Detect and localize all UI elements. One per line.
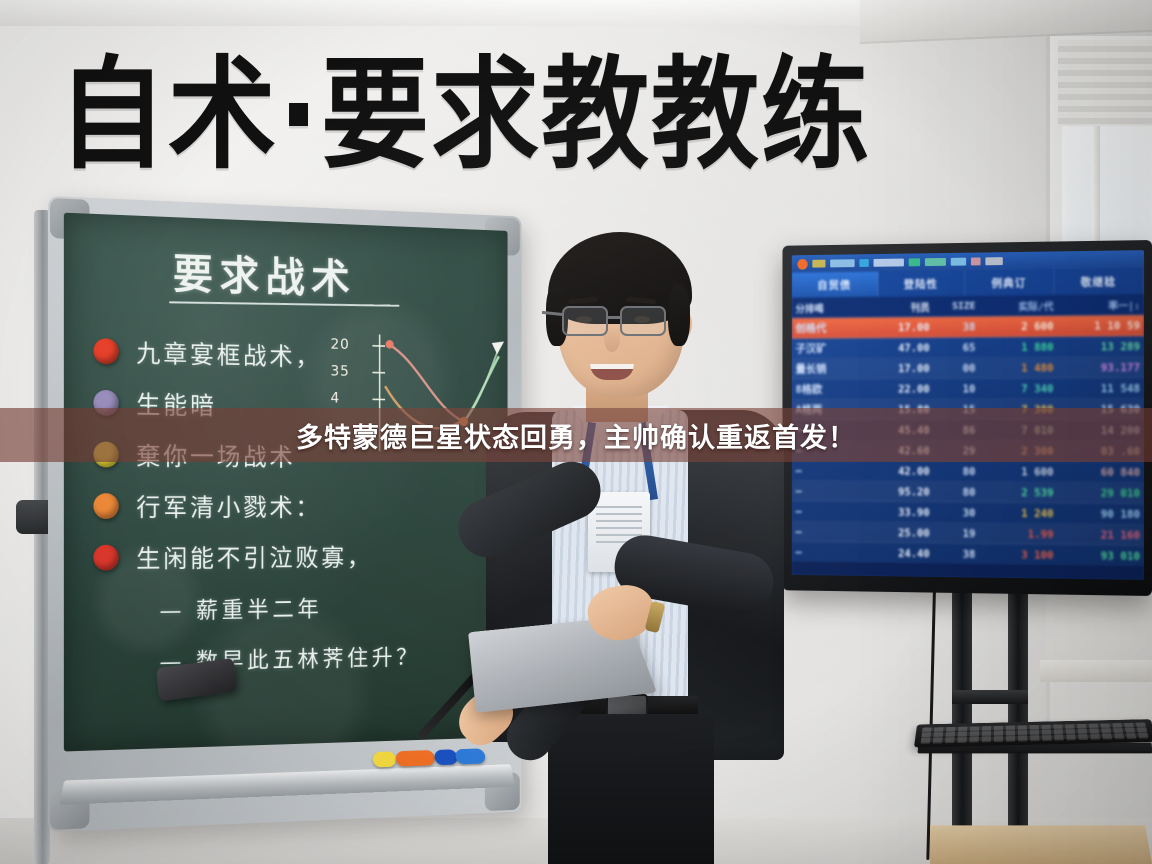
glasses-bridge [608, 316, 620, 319]
headline-text: 多特蒙德巨星状态回勇，主帅确认重返首发！ [296, 416, 856, 455]
hair-side-right [668, 284, 690, 346]
glasses-lens-left [562, 306, 608, 336]
board-note-text: 九章宴框战术， [136, 334, 321, 373]
board-heading: 要求战术 [173, 241, 356, 306]
magnet-icon[interactable] [93, 493, 118, 519]
headline-banner: 多特蒙德巨星状态回勇，主帅确认重返首发！ [0, 408, 1152, 462]
glasses-lens-right [620, 306, 666, 336]
toolbar-chip-icon [830, 259, 854, 267]
toolbar-chip-icon [812, 260, 825, 268]
board-note-text: — 薪重半二年 [159, 590, 322, 625]
chalk-yellow-icon[interactable] [372, 751, 396, 767]
magnet-icon[interactable] [93, 338, 118, 364]
trousers [548, 714, 714, 864]
board-heading-underline [169, 301, 399, 306]
presenter [430, 214, 800, 864]
board-note-text: 行军清小戮术： [136, 488, 321, 524]
nose [604, 326, 620, 352]
photo-scene: 自术·要求教教练 自贸债 [0, 0, 1152, 864]
magnet-icon[interactable] [93, 545, 118, 571]
board-note-text: 生闲能不引泣败寡， [136, 539, 372, 575]
